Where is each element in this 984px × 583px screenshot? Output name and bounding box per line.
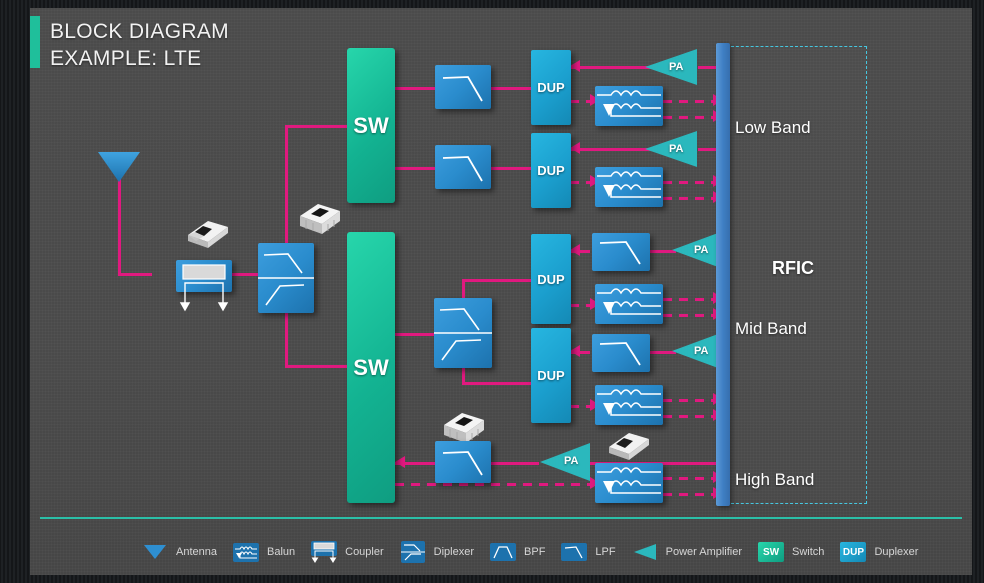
duplexer-block-low-2[interactable]: DUP xyxy=(531,133,571,208)
wire-sw-low-lpf1 xyxy=(395,87,437,90)
arrow-dup1-in xyxy=(570,60,580,72)
pa-label: PA xyxy=(669,143,683,155)
rfic-low-band-label: Low Band xyxy=(735,118,811,138)
rfic-mid-band-label: Mid Band xyxy=(735,319,807,339)
dash-balun3-rfic-b xyxy=(663,314,717,317)
legend-item-coupler: Coupler xyxy=(309,541,384,563)
wire-to-sw-low xyxy=(285,125,347,128)
legend-label: Power Amplifier xyxy=(666,546,742,558)
wire-sw-mid-diplexer2 xyxy=(395,333,434,336)
pa-label: PA xyxy=(694,244,708,256)
legend-item-diplexer: Diplexer xyxy=(398,541,474,563)
legend-label: LPF xyxy=(595,546,615,558)
smd-module-component-icon-1 xyxy=(296,196,344,238)
dash-balun2-rfic-b xyxy=(663,197,717,200)
dash-balun2-rfic-a xyxy=(663,181,717,184)
switch-label: SW xyxy=(353,355,388,381)
lpf-icon xyxy=(559,541,589,563)
legend-label: Switch xyxy=(792,546,824,558)
wire-antenna-to-coupler xyxy=(118,273,152,276)
pa-label: PA xyxy=(694,345,708,357)
pa-label: PA xyxy=(669,61,683,73)
diplexer-block-2 xyxy=(434,298,492,368)
smd-chip-component-icon-1 xyxy=(182,211,232,251)
legend-item-duplexer: DUP Duplexer xyxy=(838,541,918,563)
window-frame: BLOCK DIAGRAM EXAMPLE: LTE xyxy=(0,0,984,583)
power-amplifier-high: PA xyxy=(538,442,592,482)
wire-lpf5-pa5 xyxy=(489,462,539,465)
lpf-block-mid-2 xyxy=(592,334,650,372)
duplexer-label: DUP xyxy=(537,368,564,383)
lpf-block-low-1 xyxy=(435,65,491,109)
legend-label: Duplexer xyxy=(874,546,918,558)
dash-high-rfic-b xyxy=(663,493,717,496)
legend-label: BPF xyxy=(524,546,545,558)
duplexer-label: DUP xyxy=(537,163,564,178)
page-title: BLOCK DIAGRAM EXAMPLE: LTE xyxy=(50,18,229,72)
wire-sw-low-lpf2 xyxy=(395,167,437,170)
pa-label: PA xyxy=(564,455,578,467)
duplexer-badge: DUP xyxy=(840,542,866,562)
power-amplifier-low-2: PA xyxy=(643,130,699,168)
duplexer-block-mid-1[interactable]: DUP xyxy=(531,234,571,324)
power-amplifier-mid-2: PA xyxy=(670,333,720,369)
duplexer-block-low-1[interactable]: DUP xyxy=(531,50,571,125)
balun-block-mid-1 xyxy=(595,284,663,324)
arrow-dup2-in xyxy=(570,142,580,154)
rfic-title-label: RFIC xyxy=(772,258,814,279)
wire-lpf1-dup1 xyxy=(489,87,531,90)
dash-high-rfic-a xyxy=(663,477,717,480)
switch-label: SW xyxy=(353,113,388,139)
duplexer-label: DUP xyxy=(537,80,564,95)
dash-balun1-rfic-a xyxy=(663,100,717,103)
lpf-block-low-2 xyxy=(435,145,491,189)
power-amplifier-low-1: PA xyxy=(643,48,699,86)
arrow-dup4-in xyxy=(570,345,580,357)
wire-coupler-to-diplexer xyxy=(229,273,259,276)
dash-balun3-rfic-a xyxy=(663,298,717,301)
dash-balun4-rfic-b xyxy=(663,415,717,418)
arrow-dup3-in xyxy=(570,244,580,256)
switch-badge: SW xyxy=(758,542,784,562)
balun-block-mid-2 xyxy=(595,385,663,425)
balun-block-high xyxy=(595,463,663,503)
wire-diplexer-up xyxy=(285,125,288,247)
legend-item-balun: Balun xyxy=(231,541,295,563)
balun-block-low-2 xyxy=(595,167,663,207)
diplexer-icon xyxy=(398,541,428,563)
wire-diplexer2-down-h xyxy=(462,382,532,385)
smd-chip-component-icon-2 xyxy=(603,423,653,463)
bpf-icon xyxy=(488,541,518,563)
duplexer-icon: DUP xyxy=(838,541,868,563)
switch-block-mid-high[interactable]: SW xyxy=(347,232,395,503)
wire-diplexer-down xyxy=(285,308,288,368)
antenna-icon xyxy=(96,150,142,184)
legend-label: Diplexer xyxy=(434,546,474,558)
legend-item-antenna: Antenna xyxy=(140,541,217,563)
diagram-canvas: BLOCK DIAGRAM EXAMPLE: LTE xyxy=(30,8,972,575)
legend-divider xyxy=(40,517,962,519)
coupler-ground-arrows xyxy=(176,290,232,312)
wire-antenna-down xyxy=(118,178,121,275)
lpf-block-high xyxy=(435,441,491,483)
diplexer-block-1 xyxy=(258,243,314,313)
coupler-block xyxy=(176,260,232,292)
legend: Antenna Balun xyxy=(40,532,962,572)
legend-label: Antenna xyxy=(176,546,217,558)
wire-to-sw-mid xyxy=(285,365,347,368)
legend-label: Balun xyxy=(267,546,295,558)
legend-label: Coupler xyxy=(345,546,384,558)
legend-item-switch: SW Switch xyxy=(756,541,824,563)
duplexer-label: DUP xyxy=(537,272,564,287)
switch-icon: SW xyxy=(756,541,786,563)
dash-high-rx-a xyxy=(395,483,594,486)
legend-item-lpf: LPF xyxy=(559,541,615,563)
switch-block-low[interactable]: SW xyxy=(347,48,395,203)
legend-item-power-amplifier: Power Amplifier xyxy=(630,541,742,563)
wire-diplexer2-up-h xyxy=(462,279,532,282)
wire-lpf2-dup2 xyxy=(489,167,531,170)
coupler-icon xyxy=(309,541,339,563)
duplexer-block-mid-2[interactable]: DUP xyxy=(531,328,571,423)
power-amplifier-icon xyxy=(630,541,660,563)
dash-balun4-rfic-a xyxy=(663,399,717,402)
balun-block-low-1 xyxy=(595,86,663,126)
legend-item-bpf: BPF xyxy=(488,541,545,563)
balun-icon xyxy=(231,541,261,563)
rfic-high-band-label: High Band xyxy=(735,470,814,490)
power-amplifier-mid-1: PA xyxy=(670,232,720,268)
lpf-block-mid-1 xyxy=(592,233,650,271)
dash-balun1-rfic-b xyxy=(663,116,717,119)
title-accent-bar xyxy=(30,16,40,68)
antenna-icon xyxy=(140,541,170,563)
arrow-sw-high-in xyxy=(395,456,405,468)
rfic-interface-bar xyxy=(716,43,730,506)
